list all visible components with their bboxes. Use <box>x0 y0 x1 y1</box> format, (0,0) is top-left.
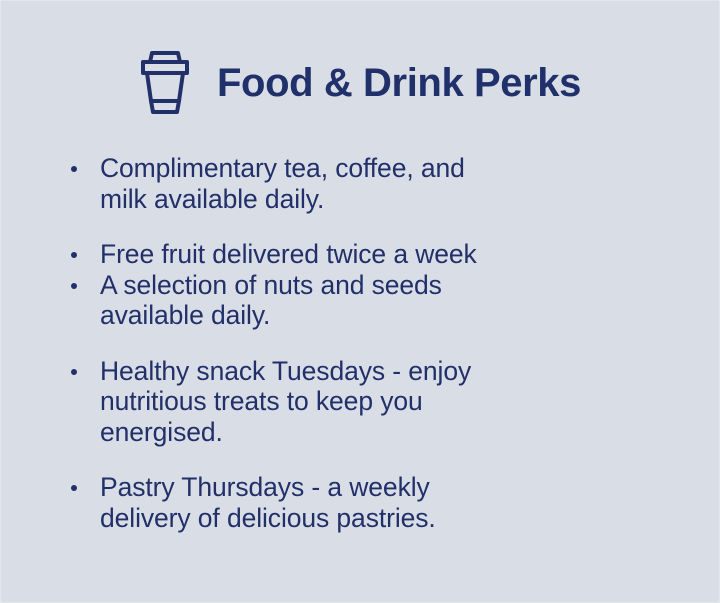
bullet-dot-icon <box>71 166 77 172</box>
slide-header: Food & Drink Perks <box>139 49 581 117</box>
perks-list: Complimentary tea, coffee, and milk avai… <box>67 153 657 533</box>
list-item: Complimentary tea, coffee, and milk avai… <box>67 153 657 214</box>
list-item: A selection of nuts and seeds available … <box>67 270 657 331</box>
bullet-dot-icon <box>71 369 77 375</box>
list-item: Free fruit delivered twice a week <box>67 239 657 270</box>
list-item-label: Pastry Thursdays - a weekly delivery of … <box>100 472 657 533</box>
list-item-label: Healthy snack Tuesdays - enjoy nutritiou… <box>100 356 657 448</box>
bullet-dot-icon <box>71 283 77 289</box>
page-title: Food & Drink Perks <box>217 63 581 103</box>
list-item-label: Free fruit delivered twice a week <box>100 239 657 270</box>
bullet-dot-icon <box>71 252 77 258</box>
slide-canvas: Food & Drink Perks Complimentary tea, co… <box>0 0 720 603</box>
list-item: Healthy snack Tuesdays - enjoy nutritiou… <box>67 356 657 448</box>
list-item-label: A selection of nuts and seeds available … <box>100 270 657 331</box>
list-item-label: Complimentary tea, coffee, and milk avai… <box>100 153 657 214</box>
bullet-dot-icon <box>71 485 77 491</box>
list-item: Pastry Thursdays - a weekly delivery of … <box>67 472 657 533</box>
coffee-cup-icon <box>139 49 191 117</box>
